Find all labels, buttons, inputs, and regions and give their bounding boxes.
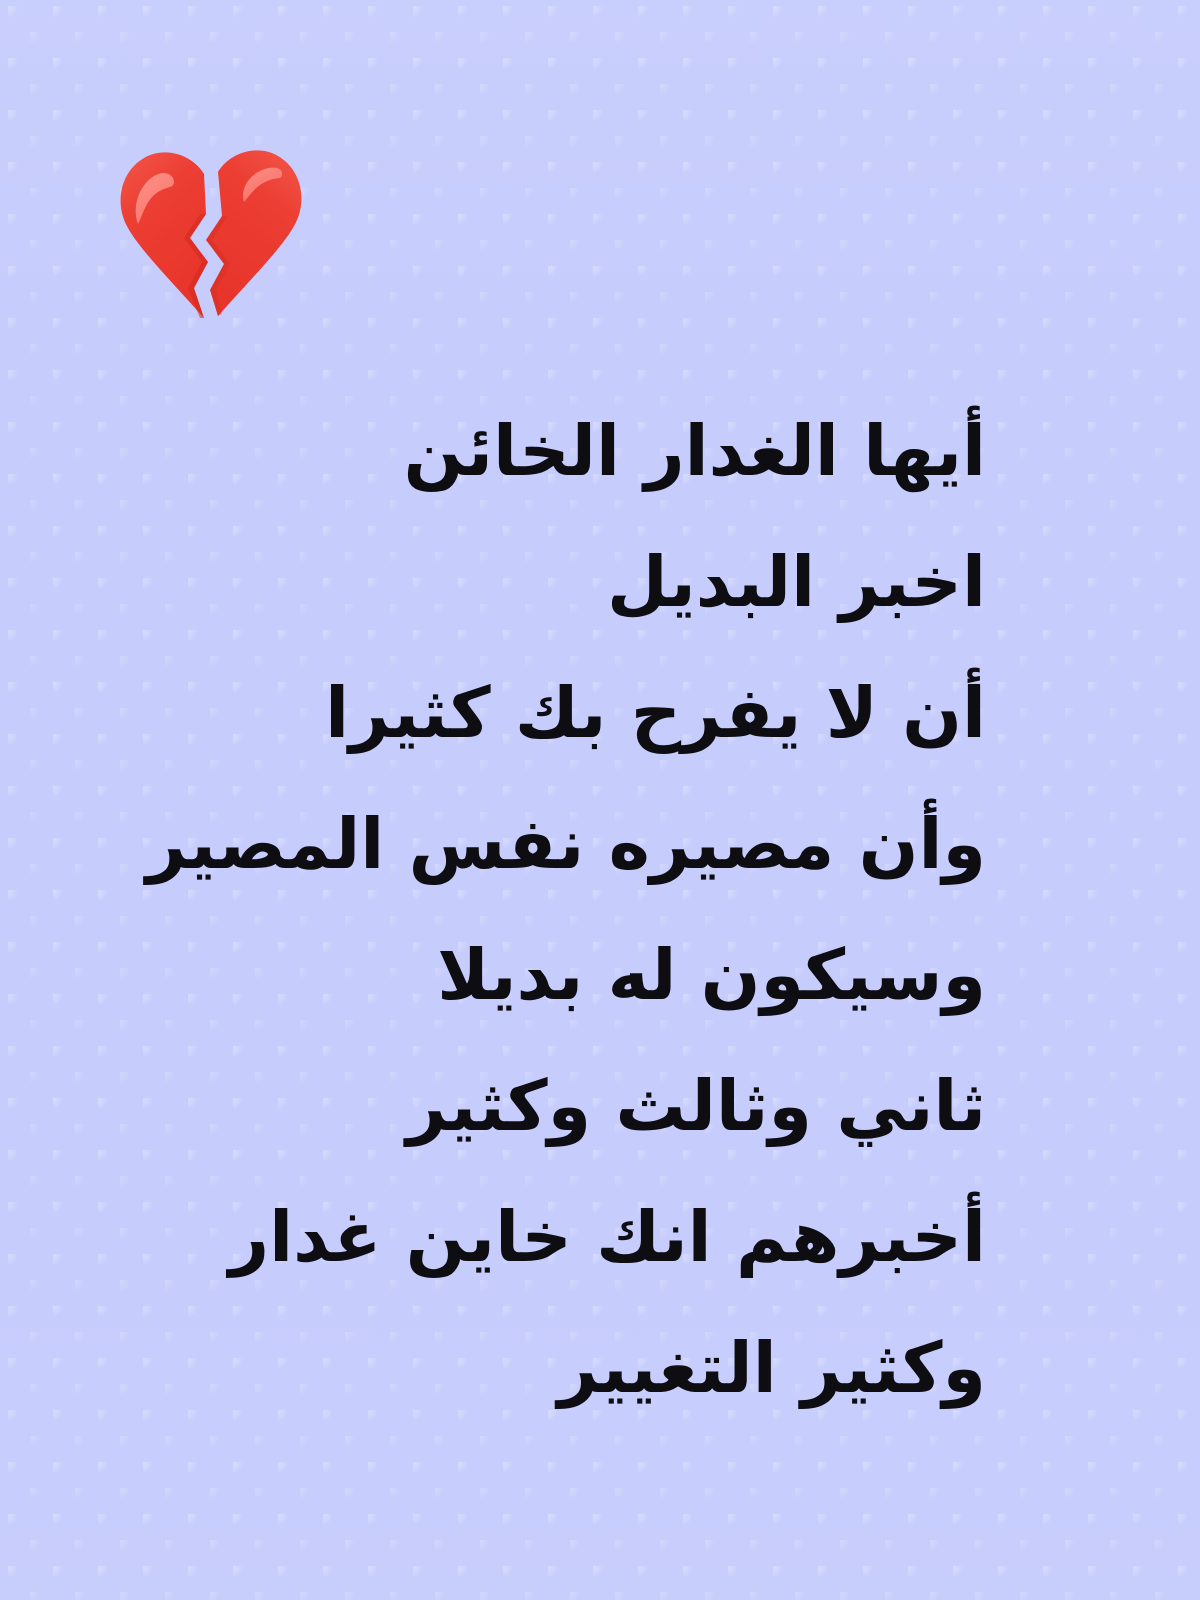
poster-canvas: أيها الغدار الخائن اخبر البديل أن لا يفر…: [0, 0, 1200, 1600]
poem-line: وكثير التغيير: [214, 1303, 986, 1434]
poem-line: أخبرهم انك خاين غدار: [214, 1172, 986, 1303]
poem-text-block: أيها الغدار الخائن اخبر البديل أن لا يفر…: [214, 386, 986, 1434]
poem-line: اخبر البديل: [214, 517, 986, 648]
poem-line: أن لا يفرح بك كثيرا: [214, 648, 986, 779]
poem-line: أيها الغدار الخائن: [214, 386, 986, 517]
broken-heart-emoji: [112, 142, 308, 324]
poem-line: وأن مصيره نفس المصير: [214, 779, 986, 910]
poem-line: وسيكون له بديلا: [214, 910, 986, 1041]
poem-line: ثاني وثالث وكثير: [214, 1041, 986, 1172]
